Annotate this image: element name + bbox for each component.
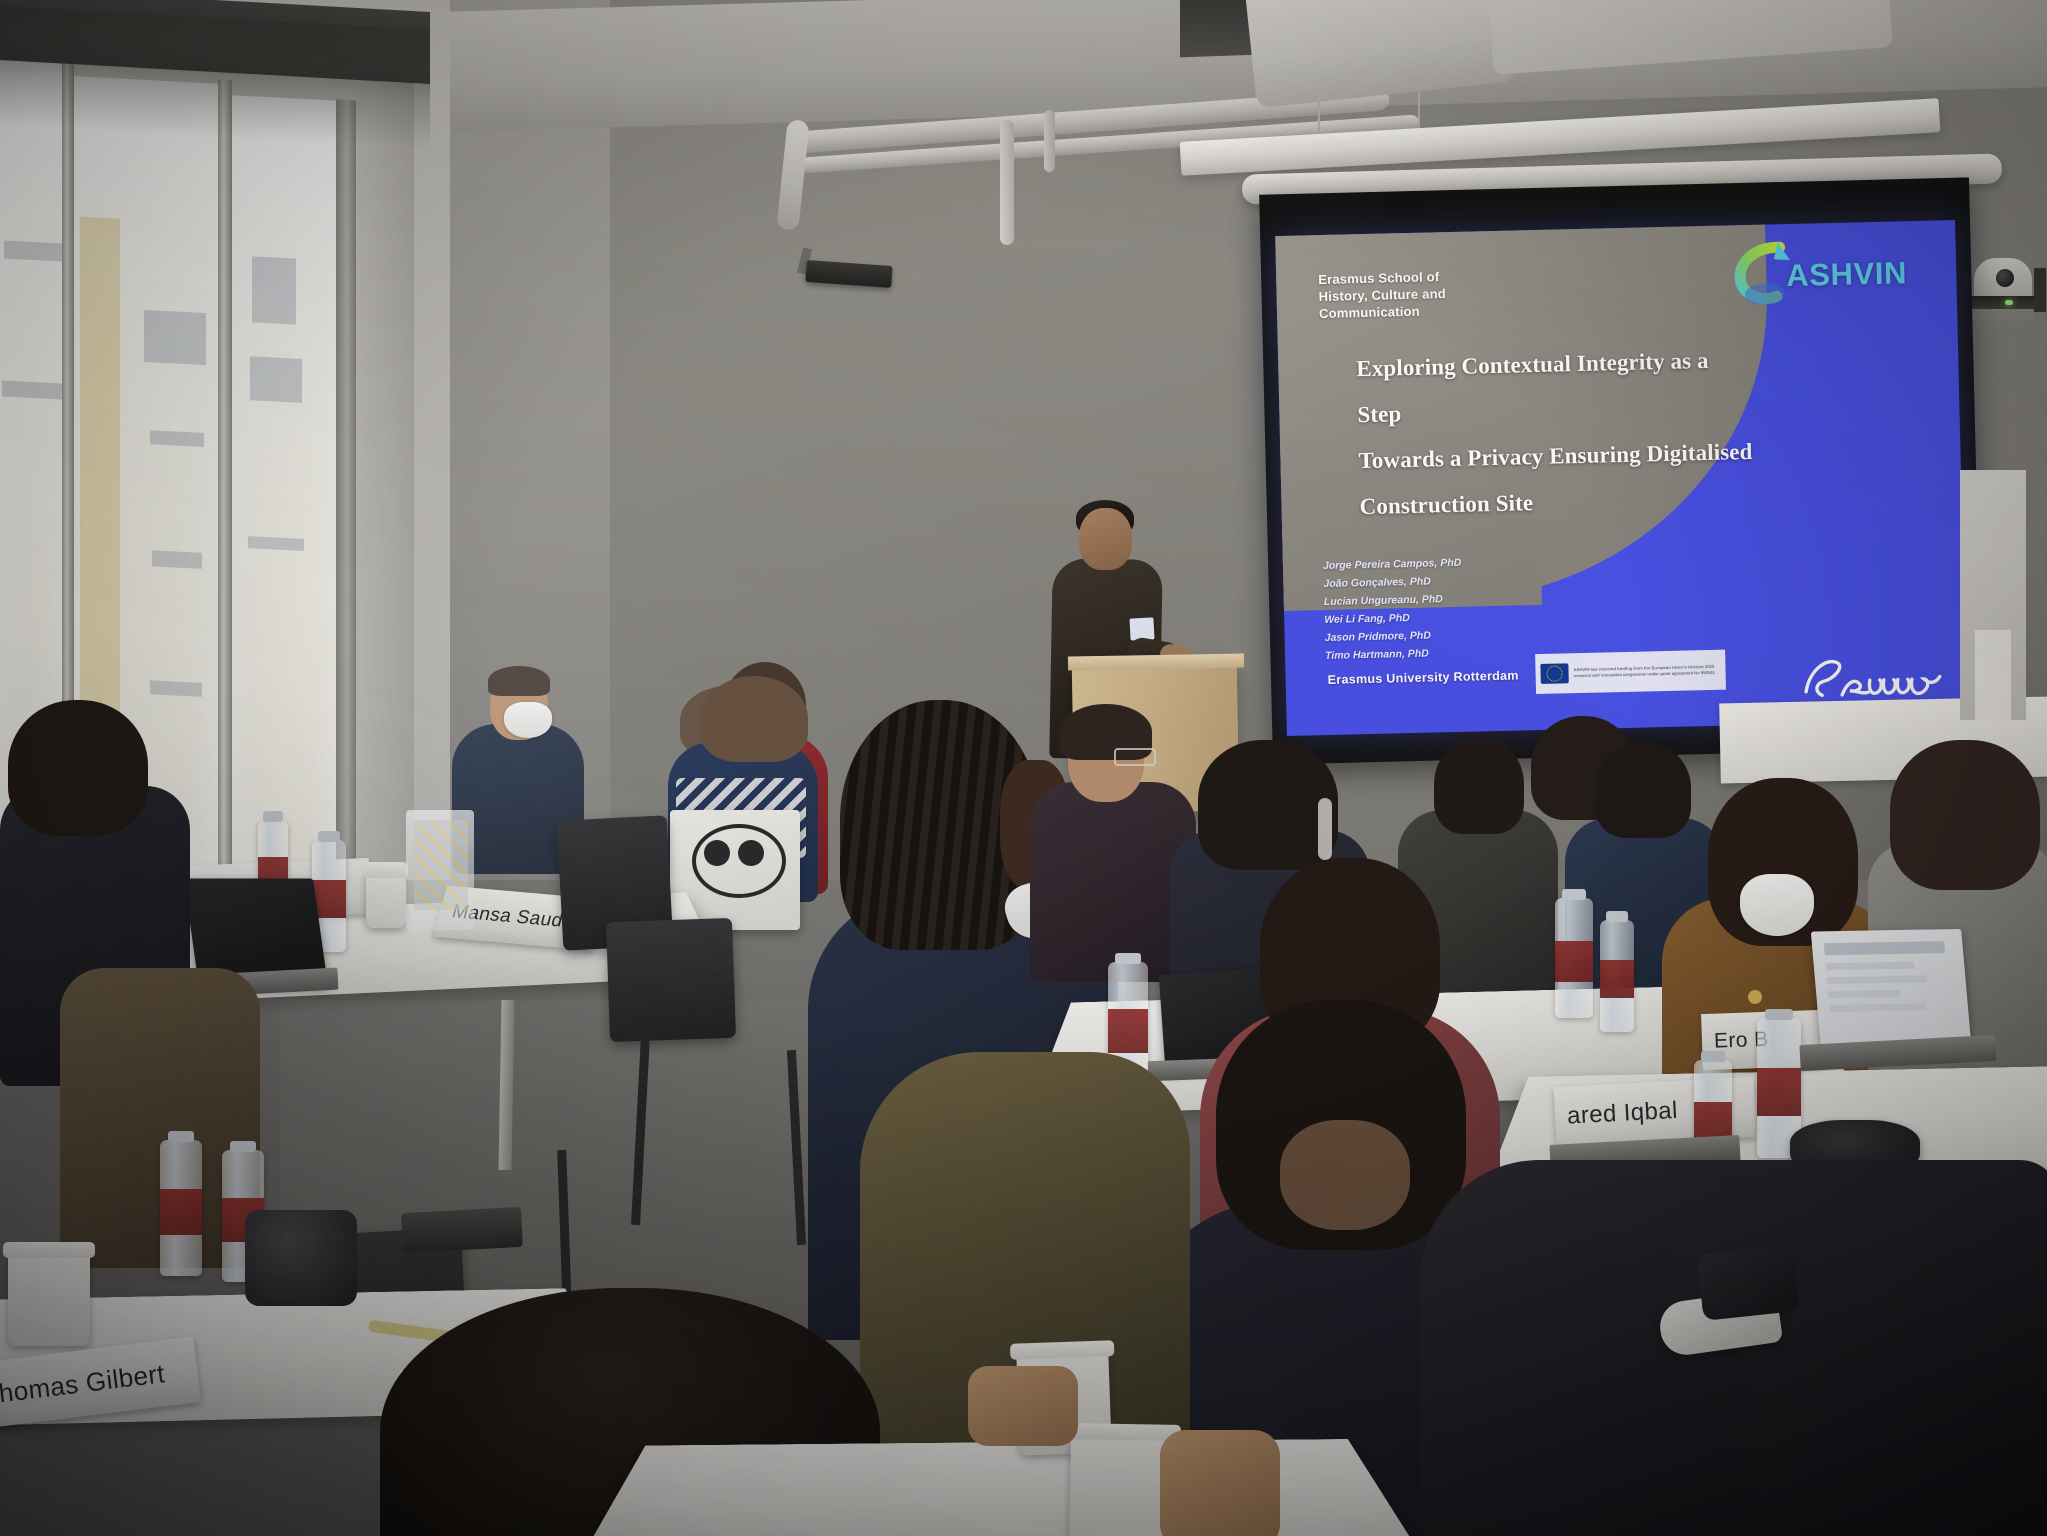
pipe-riser: [1044, 110, 1055, 172]
laptop: [1811, 929, 1971, 1047]
slide-faculty-name: Erasmus School of History, Culture and C…: [1318, 268, 1446, 322]
lecture-room-photo: Erasmus School of History, Culture and C…: [0, 0, 2047, 1536]
camera-side-panel: [2034, 268, 2046, 312]
author-item: Lucian Ungureanu, PhD: [1324, 590, 1463, 611]
author-item: Jorge Pereira Campos, PhD: [1323, 554, 1462, 575]
eu-funding-text: ASHVIN has received funding from the Eur…: [1573, 663, 1720, 679]
camera-mount: [1970, 309, 2034, 321]
window-header-shade: [0, 6, 430, 150]
chair: [606, 918, 736, 1042]
hand: [968, 1366, 1078, 1446]
coffee-cup: [8, 1250, 90, 1346]
window-reveal: [356, 59, 414, 921]
presentation-slide: Erasmus School of History, Culture and C…: [1275, 220, 1967, 736]
eu-funding-badge: ASHVIN has received funding from the Eur…: [1535, 650, 1726, 694]
window-pane: [228, 95, 340, 891]
ashvin-wordmark: ASHVIN: [1786, 255, 1908, 294]
water-bottle: [1600, 920, 1634, 1032]
coffee-cup: [366, 870, 406, 928]
author-item: Timo Hartmann, PhD: [1325, 644, 1464, 665]
hand: [1160, 1430, 1280, 1536]
window-mullion: [218, 80, 232, 881]
camera-status-led: [2005, 300, 2013, 305]
notebook: [414, 820, 468, 910]
water-bottle: [1555, 898, 1593, 1018]
trouser-leg: [1697, 1245, 1799, 1321]
slide-university-name: Erasmus University Rotterdam: [1328, 668, 1519, 686]
window-mullion: [336, 99, 358, 900]
pipe-riser: [1000, 120, 1014, 245]
faculty-line-3: Communication: [1319, 302, 1447, 322]
slide-title: Exploring Contextual Integrity as a Step…: [1356, 337, 1760, 530]
slide-title-line-3: Construction Site: [1359, 475, 1760, 530]
table: [585, 1439, 1413, 1536]
eu-flag-icon: [1540, 663, 1568, 684]
slide-title-line-1: Exploring Contextual Integrity as a Step: [1356, 337, 1758, 438]
backpack: [245, 1210, 357, 1306]
water-bottle: [160, 1140, 202, 1276]
wall-rail-bracket: [1975, 630, 2011, 720]
ashvin-logo: ASHVIN: [1729, 232, 1941, 311]
faculty-line-2: History, Culture and: [1318, 285, 1446, 305]
camera-lens-icon: [1996, 269, 2014, 287]
slide-author-list: Jorge Pereira Campos, PhD João Gonçalves…: [1323, 554, 1464, 666]
floor-power-box: [401, 1207, 523, 1253]
presenter-head: [1079, 508, 1132, 570]
slide-title-line-2: Towards a Privacy Ensuring Digitalised: [1358, 429, 1759, 484]
